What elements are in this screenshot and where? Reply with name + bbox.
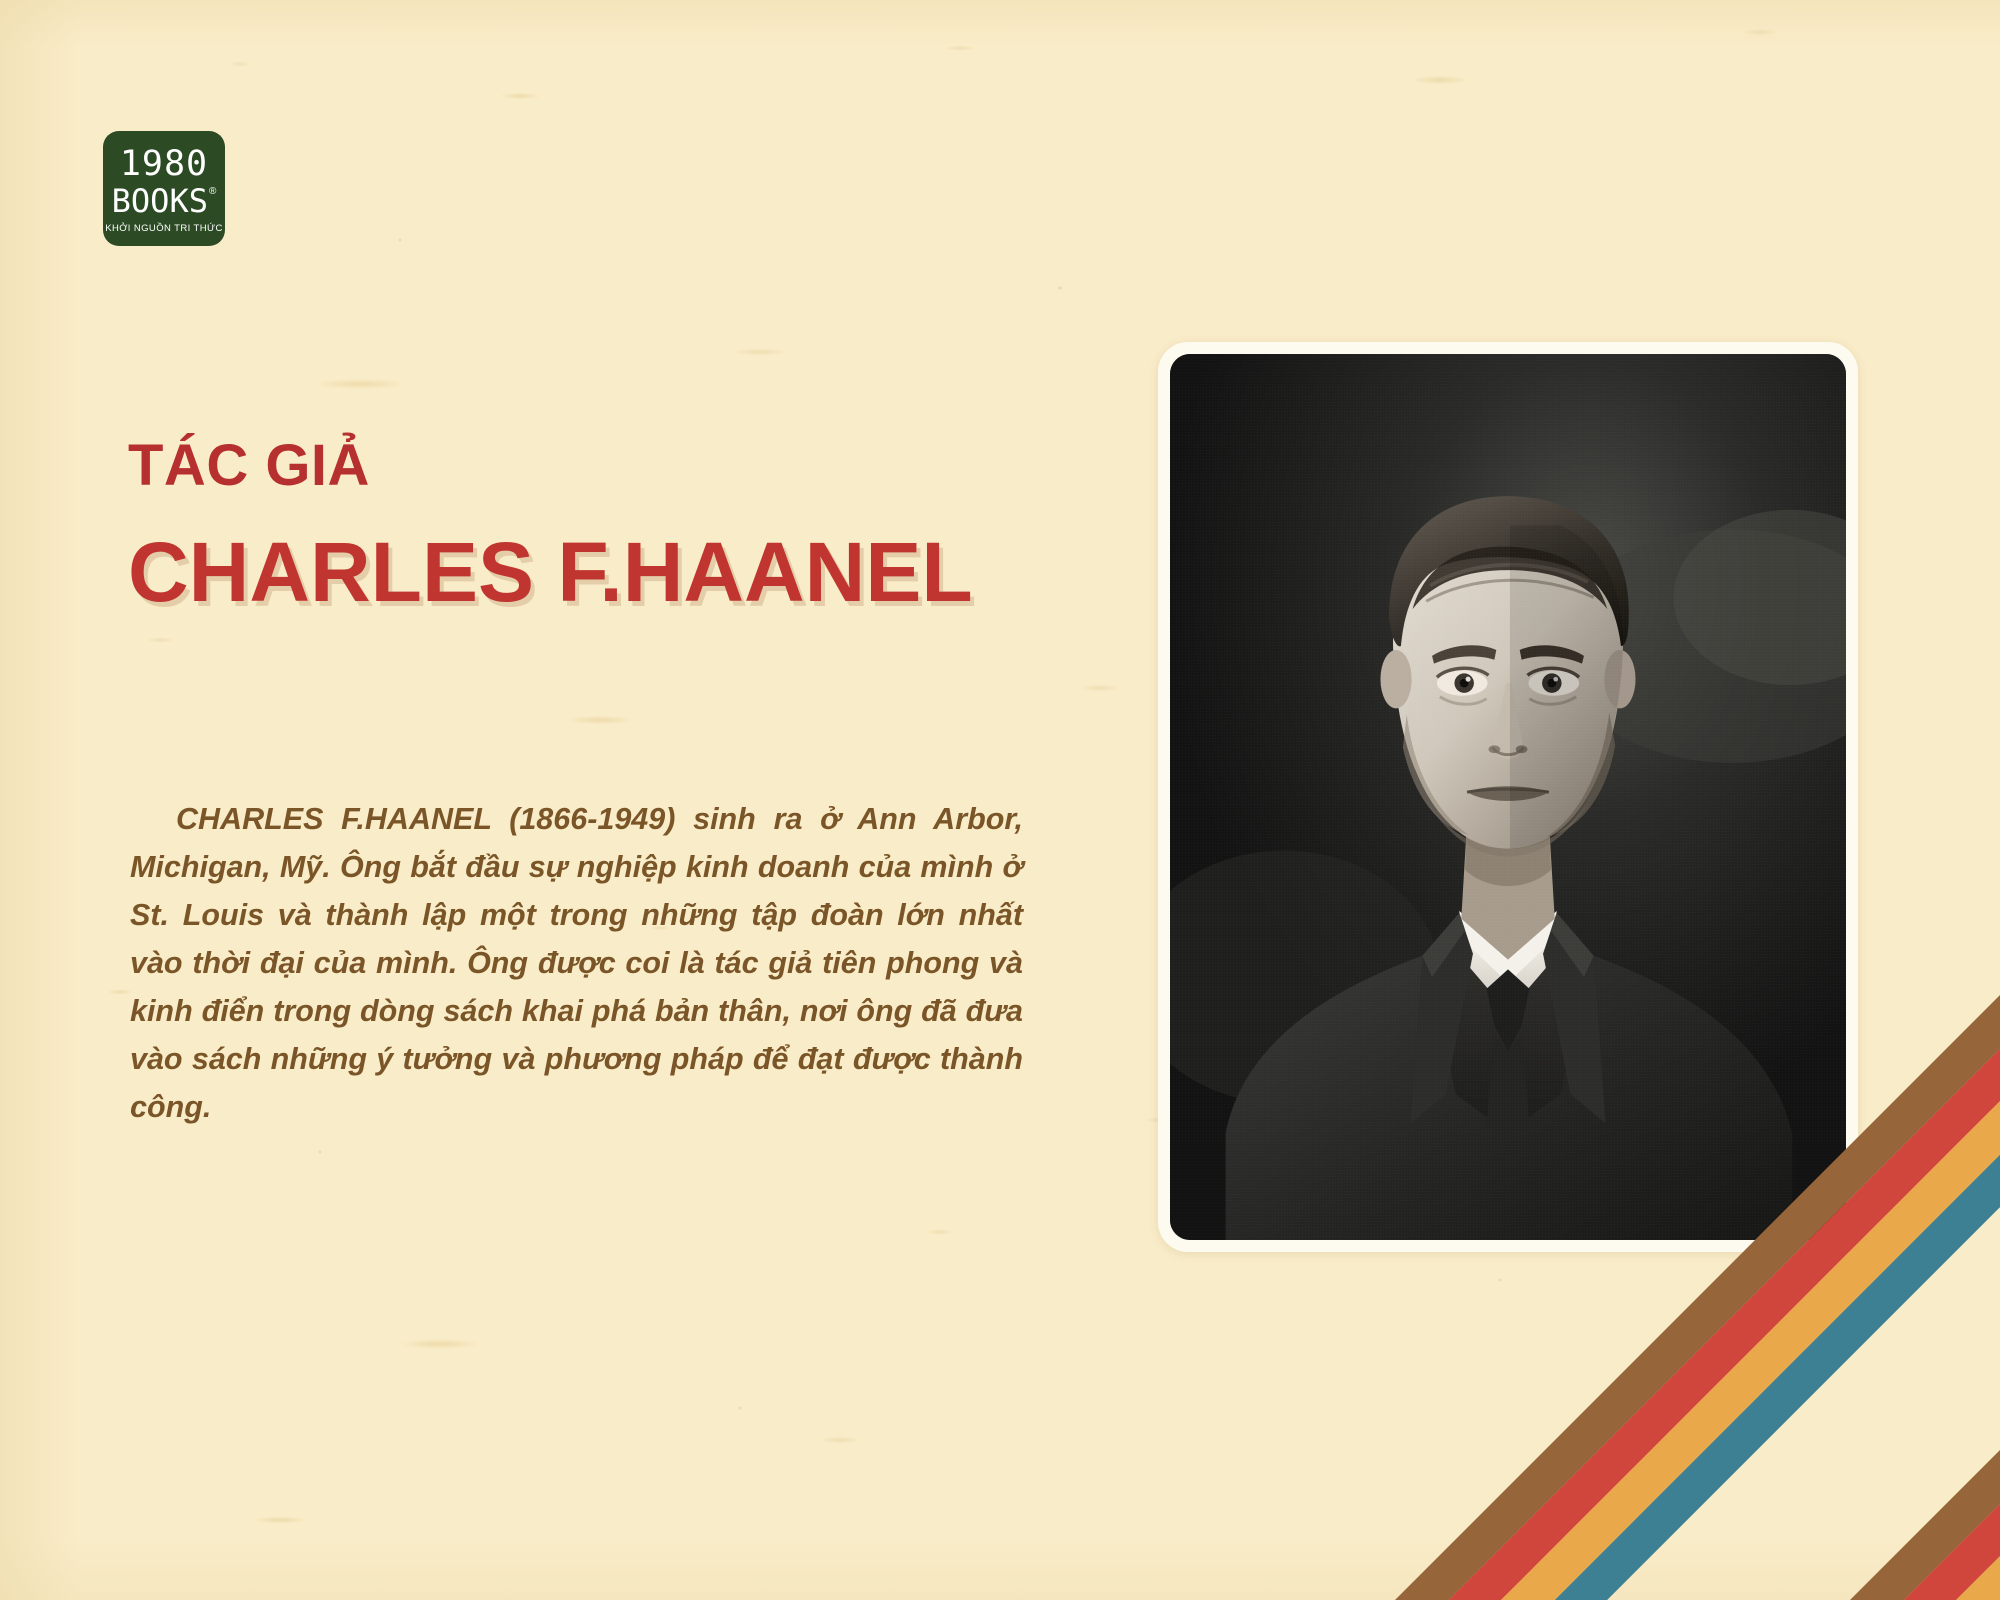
page-title: CHARLES F.HAANEL [128, 530, 973, 614]
stripe-red [1877, 566, 2000, 1600]
author-slide: 1980 BOOKS ® KHỞI NGUỒN TRI THỨC TÁC GIẢ… [0, 0, 2000, 1600]
logo-tagline-text: KHỞI NGUỒN TRI THỨC [105, 223, 222, 234]
registered-trademark-icon: ® [209, 187, 216, 197]
stripe-brown [1850, 539, 2000, 1600]
author-portrait [1170, 354, 1846, 1240]
author-biography: CHARLES F.HAANEL (1866-1949) sinh ra ở A… [130, 795, 1023, 1131]
logo-wordmark: BOOKS ® [112, 185, 217, 217]
stripe-teal [1930, 619, 2000, 1600]
logo-year-text: 1980 [120, 147, 208, 182]
brand-logo[interactable]: 1980 BOOKS ® KHỞI NGUỒN TRI THỨC [103, 131, 225, 246]
portrait-frame [1158, 342, 1858, 1252]
section-kicker: TÁC GIẢ [128, 437, 370, 495]
logo-books-text: BOOKS [112, 185, 208, 217]
portrait-artwork [1170, 354, 1846, 1240]
stripe-band-lower [1850, 539, 2000, 1600]
stripe-gold [1903, 592, 2000, 1600]
